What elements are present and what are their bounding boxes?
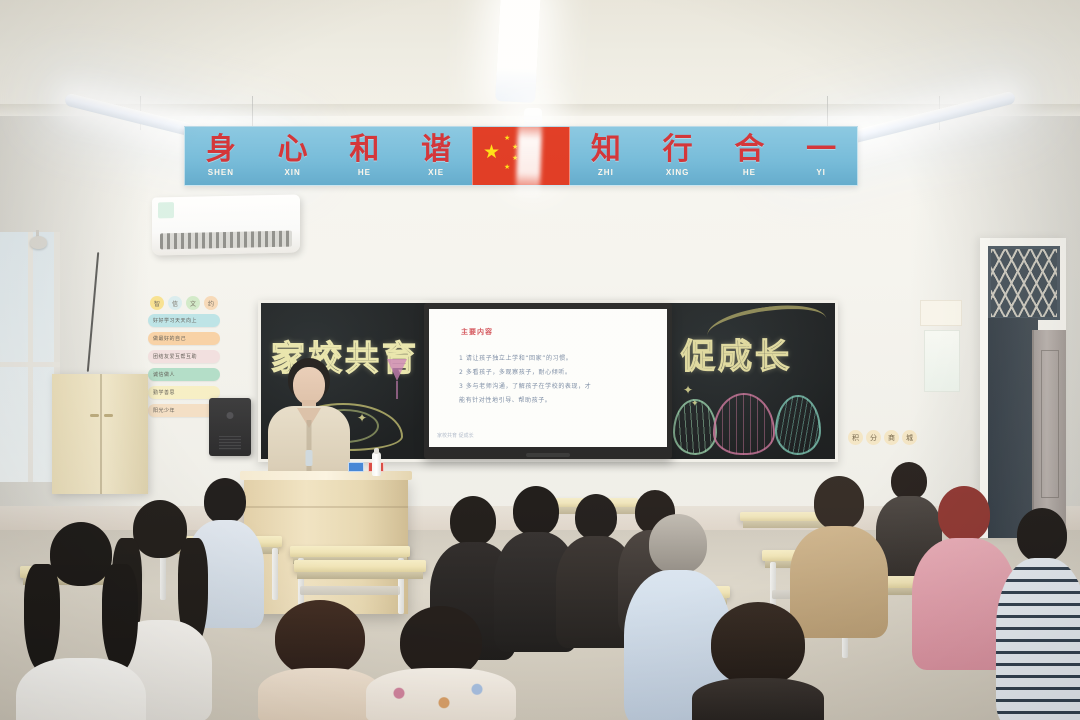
- light-hanger: [252, 96, 253, 130]
- banner-han-char: 身: [206, 135, 236, 165]
- attendee-hair: [102, 564, 138, 672]
- attendee-body: [366, 668, 516, 720]
- flag-star-small: ★: [504, 164, 510, 171]
- chalk-kite-icon: [387, 359, 407, 381]
- chalk-leaf-icon: [713, 393, 775, 455]
- slide-line: 3 多与老师沟通，了解孩子在学校的表现，才: [459, 381, 591, 390]
- points-mall-char: 积: [848, 430, 863, 445]
- decor-strip: 团结友爱互帮互助: [148, 350, 220, 363]
- banner-han-char: 心: [278, 135, 308, 165]
- window-mullion: [28, 232, 33, 482]
- slide-heading: 主要内容: [461, 327, 493, 337]
- wooden-cabinet[interactable]: [52, 374, 148, 494]
- attendee-body: [996, 558, 1080, 720]
- bottle-cap: [374, 448, 379, 454]
- banner-char: 一 YI: [806, 135, 836, 177]
- ceiling: [0, 0, 1080, 118]
- interactive-whiteboard[interactable]: 主要内容 1 请让孩子独立上学和“回家”的习惯。 2 多看孩子，多观察孩子，耐心…: [424, 303, 672, 459]
- decor-strip: 做最好的自己: [148, 332, 220, 345]
- banner-char: 行 XING: [663, 135, 693, 177]
- wall-banner: 身 SHEN 心 XIN 和 HE 谐 XIE ★ ★ ★ ★ ★: [184, 126, 858, 186]
- attendee: [366, 606, 516, 720]
- window-left: [0, 232, 60, 482]
- lectern-edge: [244, 506, 408, 508]
- wall-speaker-icon: [209, 398, 251, 456]
- decor-circle-row: 智 信 文 约: [148, 296, 220, 310]
- points-mall-char: 商: [884, 430, 899, 445]
- door-transom-grille: [988, 246, 1060, 320]
- chalk-kite-tail: [396, 381, 398, 399]
- ac-badge: [158, 202, 174, 218]
- points-mall-char: 城: [902, 430, 917, 445]
- banner-han-char: 一: [806, 135, 836, 165]
- banner-han-char: 合: [734, 135, 764, 165]
- light-hanger: [827, 96, 828, 130]
- banner-char: 合 HE: [734, 135, 764, 177]
- banner-pinyin: SHEN: [208, 169, 234, 177]
- banner-char: 身 SHEN: [206, 135, 236, 177]
- attendee-body: [258, 668, 382, 720]
- slide-line: 2 多看孩子，多观察孩子，耐心倾听。: [459, 367, 572, 376]
- attendee-head: [814, 476, 864, 530]
- cabinet-split: [100, 374, 102, 494]
- chalk-sparkle-icon: ✦: [683, 383, 693, 397]
- decor-circle: 信: [168, 296, 182, 310]
- flag-star-small: ★: [504, 135, 510, 142]
- student-desk[interactable]: [290, 546, 410, 557]
- banner-han-char: 知: [591, 135, 621, 165]
- teacher: [266, 358, 352, 488]
- banner-pinyin: YI: [816, 169, 826, 177]
- blue-marker-icon[interactable]: [348, 462, 364, 472]
- banner-han-char: 行: [663, 135, 693, 165]
- window-transom: [0, 362, 60, 367]
- banner-left-phrase: 身 SHEN 心 XIN 和 HE 谐 XIE: [185, 127, 472, 185]
- banner-pinyin: XING: [666, 169, 690, 177]
- chalk-leaf-icon: [775, 395, 821, 455]
- lectern-top: [240, 471, 412, 480]
- chalk-leaf-icon: [673, 399, 717, 455]
- wall-paper: [920, 300, 962, 326]
- blackboard-right-title: 促成长: [681, 329, 792, 378]
- attendee-head: [50, 522, 112, 586]
- chalk-sparkle-icon: ✦: [357, 411, 367, 425]
- screen-control-bar[interactable]: [526, 453, 570, 457]
- speaker-grille: [219, 436, 241, 450]
- water-bottle-icon[interactable]: [372, 452, 381, 476]
- attendee-head: [649, 514, 707, 574]
- speaker-driver: [227, 412, 234, 419]
- banner-right-phrase: 知 ZHI 行 XING 合 HE 一 YI: [570, 127, 857, 185]
- banner-char: 知 ZHI: [591, 135, 621, 177]
- student-desk[interactable]: [294, 560, 426, 572]
- desk-shelf: [300, 586, 400, 595]
- decor-circle: 文: [186, 296, 200, 310]
- banner-pinyin: HE: [743, 169, 756, 177]
- chinese-flag-icon: ★ ★ ★ ★ ★: [472, 127, 570, 185]
- attendee: [258, 600, 382, 720]
- slide-line: 1 请让孩子独立上学和“回家”的习惯。: [459, 353, 572, 362]
- points-mall-char: 分: [866, 430, 881, 445]
- decor-circle: 智: [150, 296, 164, 310]
- desk-leg: [272, 548, 278, 600]
- attendee-head: [275, 600, 365, 676]
- decor-circle: 约: [204, 296, 218, 310]
- banner-char: 和 HE: [349, 135, 379, 177]
- classroom-scene: 身 SHEN 心 XIN 和 HE 谐 XIE ★ ★ ★ ★ ★: [0, 0, 1080, 720]
- banner-char: 心 XIN: [278, 135, 308, 177]
- light-glare: [516, 113, 543, 200]
- attendee: [692, 602, 824, 720]
- banner-pinyin: HE: [358, 169, 371, 177]
- banner-pinyin: XIE: [428, 169, 444, 177]
- slide-footer: 家校共育 促成长: [437, 432, 474, 439]
- metal-grille-icon: [991, 249, 1057, 317]
- decor-strip: 好好学习天天向上: [148, 314, 220, 327]
- banner-han-char: 谐: [421, 135, 451, 165]
- banner-char: 谐 XIE: [421, 135, 451, 177]
- presentation-screen[interactable]: 主要内容 1 请让孩子独立上学和“回家”的习惯。 2 多看孩子，多观察孩子，耐心…: [429, 309, 667, 447]
- air-conditioner-icon: [152, 194, 300, 255]
- ceiling-light-center-icon: [495, 0, 541, 103]
- banner-pinyin: ZHI: [598, 169, 614, 177]
- teacher-lanyard: [306, 450, 313, 466]
- decor-strip: 勤学善思: [148, 386, 220, 399]
- ac-vent: [160, 231, 292, 250]
- attendee-head: [450, 496, 496, 546]
- classroom-door[interactable]: [1032, 330, 1066, 538]
- attendee-head: [711, 602, 805, 686]
- cabinet-handle[interactable]: [90, 414, 99, 417]
- security-camera-icon: [30, 236, 47, 249]
- banner-han-char: 和: [349, 135, 379, 165]
- flag-star-large: ★: [483, 143, 500, 162]
- attendee-head: [1017, 508, 1067, 562]
- attendee-body: [16, 658, 146, 720]
- attendee-hair: [24, 564, 60, 672]
- attendee-head: [938, 486, 990, 542]
- slide-line: 能有针对性地引导、帮助孩子。: [459, 395, 551, 404]
- attendee-head: [575, 494, 617, 540]
- banner-pinyin: XIN: [284, 169, 300, 177]
- cabinet-handle[interactable]: [104, 414, 113, 417]
- attendee: [996, 508, 1080, 720]
- blackboard-right-panel: 促成长 ✦ ✦: [667, 303, 835, 459]
- attendee-body: [692, 678, 824, 720]
- attendee: [16, 522, 146, 720]
- wall-notice-board: [924, 330, 960, 392]
- attendee-head: [513, 486, 559, 536]
- decor-strip: 诚信做人: [148, 368, 220, 381]
- points-mall-sign: 积 分 商 城: [848, 430, 917, 445]
